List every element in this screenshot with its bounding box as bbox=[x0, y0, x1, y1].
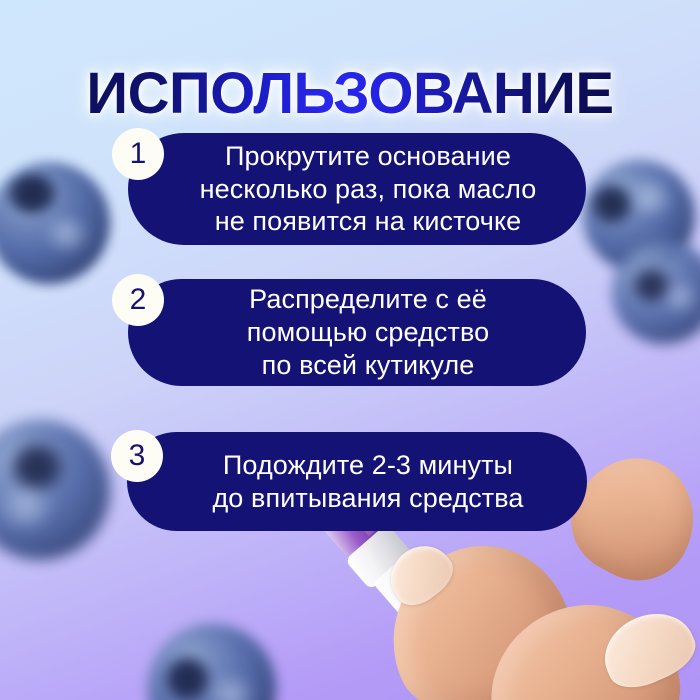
step-badge-3: 3 bbox=[111, 430, 163, 482]
berry-crown bbox=[8, 174, 57, 213]
pen-barrel bbox=[373, 554, 453, 637]
page-title: ИСПОЛЬЗОВАНИЕ bbox=[86, 65, 613, 123]
pen-brush-tip-icon bbox=[456, 647, 478, 670]
berry-crown bbox=[166, 657, 210, 700]
pen-collar bbox=[345, 523, 414, 590]
blueberry-right-icon bbox=[612, 240, 700, 344]
step-card-3: Подождите 2-3 минуты до впитывания средс… bbox=[127, 432, 587, 531]
berry-gloss bbox=[0, 484, 54, 529]
blueberry-top-right-icon bbox=[583, 160, 695, 272]
berry-body bbox=[148, 624, 276, 700]
step-badge-1: 1 bbox=[112, 128, 164, 180]
blueberry-mid-left-icon bbox=[0, 420, 110, 560]
poster-canvas: ИСПОЛЬЗОВАНИЕ Прокрутите основание неско… bbox=[0, 0, 700, 700]
pen-tip-cone bbox=[423, 610, 476, 664]
berry-gloss bbox=[44, 216, 90, 253]
berry-gloss bbox=[662, 282, 699, 313]
index-finger bbox=[365, 520, 592, 700]
step-card-1-text: Прокрутите основание несколько раз, пока… bbox=[142, 140, 573, 239]
blueberry-top-left-icon bbox=[0, 162, 110, 284]
berry-crown bbox=[633, 269, 670, 302]
step-card-2-text: Распределите с её помощью средство по вс… bbox=[189, 283, 525, 382]
berry-gloss bbox=[628, 180, 673, 216]
berry-crown bbox=[592, 185, 632, 223]
berry-body bbox=[0, 420, 110, 560]
middle-finger bbox=[470, 583, 697, 700]
middle-fingernail bbox=[593, 600, 700, 698]
berry-body bbox=[612, 240, 700, 344]
step-badge-2: 2 bbox=[112, 274, 164, 326]
step-card-2: Распределите с её помощью средство по вс… bbox=[128, 279, 586, 386]
blueberry-bottom-icon bbox=[148, 624, 276, 700]
berry-body bbox=[0, 162, 110, 284]
berry-body bbox=[583, 160, 695, 272]
berry-gloss bbox=[207, 675, 256, 700]
step-card-1: Прокрутите основание несколько раз, пока… bbox=[128, 133, 586, 245]
berry-crown bbox=[12, 445, 62, 490]
step-card-3-text: Подождите 2-3 минуты до впитывания средс… bbox=[154, 449, 559, 515]
index-fingernail bbox=[379, 534, 461, 614]
